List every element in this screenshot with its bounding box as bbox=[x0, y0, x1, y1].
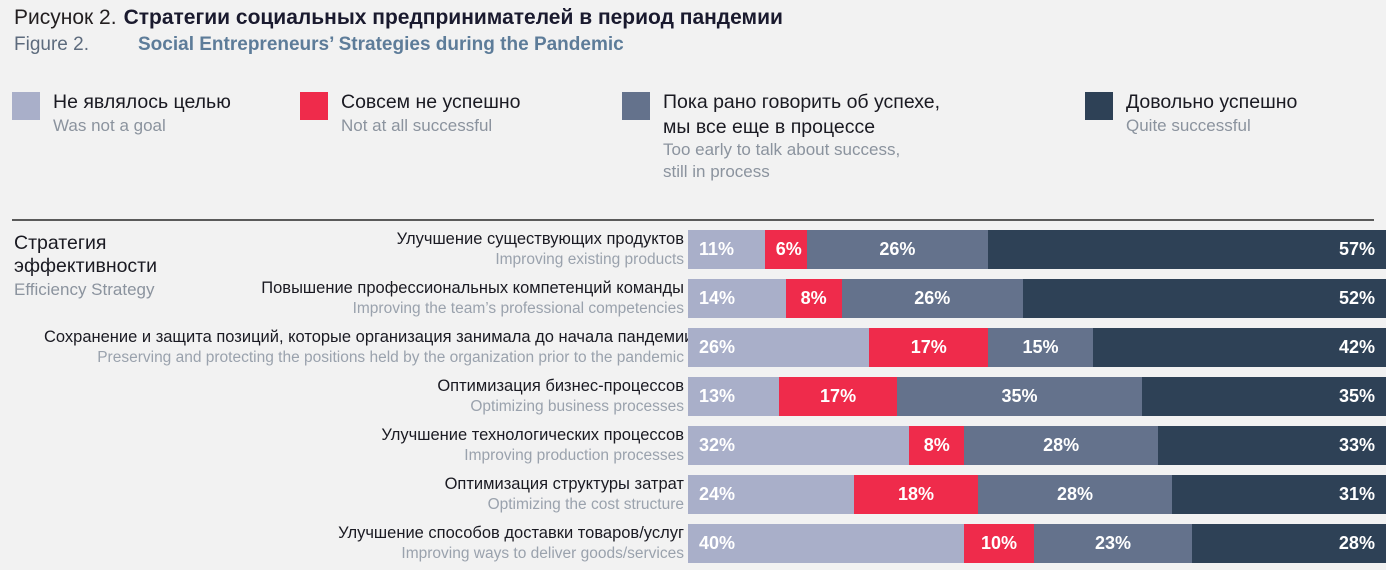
figure-title-en: Social Entrepreneurs’ Strategies during … bbox=[138, 34, 624, 56]
legend-item-0[interactable]: Не являлось цельюWas not a goal bbox=[12, 90, 231, 137]
bar-segment[interactable]: 14% bbox=[688, 279, 786, 318]
bar-segment[interactable]: 42% bbox=[1093, 328, 1386, 367]
legend-item-1[interactable]: Совсем не успешноNot at all successful bbox=[300, 90, 520, 137]
bar-segment-value: 6% bbox=[765, 239, 807, 260]
title-english-row: Figure 2. Social Entrepreneurs’ Strategi… bbox=[14, 34, 1374, 56]
stacked-bar: 14%8%26%52% bbox=[688, 279, 1386, 318]
bar-segment-value: 52% bbox=[1328, 288, 1386, 309]
bar-segment-value: 14% bbox=[688, 288, 746, 309]
bar-segment-value: 17% bbox=[900, 337, 958, 358]
legend-item-2[interactable]: Пока рано говорить об успехе,мы все еще … bbox=[622, 90, 940, 183]
legend-label-en: Quite successful bbox=[1126, 115, 1297, 137]
bar-segment-value: 40% bbox=[688, 533, 746, 554]
bar-segment-value: 32% bbox=[688, 435, 746, 456]
legend-label-ru: Довольно успешно bbox=[1126, 90, 1297, 115]
bar-row-label: Сохранение и защита позиций, которые орг… bbox=[44, 328, 684, 367]
bar-row-label-en: Preserving and protecting the positions … bbox=[44, 349, 684, 368]
stacked-bar: 24%18%28%31% bbox=[688, 475, 1386, 514]
bar-segment-value: 11% bbox=[688, 239, 745, 260]
legend-label-en: still in process bbox=[663, 161, 940, 183]
legend-swatch-icon bbox=[1085, 92, 1113, 120]
bar-row-label: Улучшение способов доставки товаров/услу… bbox=[44, 524, 684, 563]
bar-segment[interactable]: 23% bbox=[1034, 524, 1193, 563]
bar-segment[interactable]: 10% bbox=[964, 524, 1033, 563]
bar-row-label-ru: Улучшение существующих продуктов bbox=[44, 230, 684, 250]
bar-segment[interactable]: 26% bbox=[842, 279, 1023, 318]
bar-segment[interactable]: 33% bbox=[1158, 426, 1386, 465]
header-divider bbox=[12, 219, 1374, 221]
figure-number-ru: Рисунок 2. bbox=[14, 6, 117, 30]
bar-row-label-ru: Оптимизация структуры затрат bbox=[44, 475, 684, 495]
bar-segment-value: 26% bbox=[688, 337, 746, 358]
bar-row-label-en: Improving ways to deliver goods/services bbox=[44, 545, 684, 564]
bar-segment-value: 42% bbox=[1328, 337, 1386, 358]
bar-segment[interactable]: 28% bbox=[978, 475, 1172, 514]
bar-row: Улучшение технологических процессовImpro… bbox=[0, 426, 1386, 465]
bar-row: Улучшение существующих продуктовImprovin… bbox=[0, 230, 1386, 269]
bar-segment[interactable]: 8% bbox=[909, 426, 964, 465]
bar-segment-value: 33% bbox=[1328, 435, 1386, 456]
bar-segment-value: 13% bbox=[688, 386, 746, 407]
legend-swatch-icon bbox=[300, 92, 328, 120]
legend-swatch-icon bbox=[12, 92, 40, 120]
stacked-bar: 11%6%26%57% bbox=[688, 230, 1386, 269]
bar-segment-value: 28% bbox=[1046, 484, 1104, 505]
legend-label-ru: Не являлось целью bbox=[53, 90, 231, 115]
bar-segment-value: 18% bbox=[887, 484, 945, 505]
figure-title-ru: Стратегии социальных предпринимателей в … bbox=[124, 6, 783, 30]
bar-segment-value: 57% bbox=[1328, 239, 1386, 260]
figure-container: Рисунок 2. Стратегии социальных предприн… bbox=[0, 0, 1386, 570]
bar-row-label-ru: Улучшение технологических процессов bbox=[44, 426, 684, 446]
bar-segment[interactable]: 35% bbox=[1142, 377, 1386, 416]
legend-label-en: Not at all successful bbox=[341, 115, 520, 137]
bar-segment-value: 26% bbox=[903, 288, 961, 309]
bar-row-label-en: Improving production processes bbox=[44, 447, 684, 466]
legend-label-ru: Совсем не успешно bbox=[341, 90, 520, 115]
bar-segment-value: 24% bbox=[688, 484, 746, 505]
chart-body: Стратегияэффективности Efficiency Strate… bbox=[0, 230, 1386, 570]
bar-row: Повышение профессиональных компетенций к… bbox=[0, 279, 1386, 318]
bar-segment-value: 28% bbox=[1328, 533, 1386, 554]
bar-row-label-en: Improving existing products bbox=[44, 251, 684, 270]
bar-segment[interactable]: 26% bbox=[807, 230, 988, 269]
bar-row: Оптимизация структуры затратOptimizing t… bbox=[0, 475, 1386, 514]
bar-segment[interactable]: 57% bbox=[988, 230, 1386, 269]
figure-number-en: Figure 2. bbox=[14, 34, 138, 56]
bar-row-label-ru: Оптимизация бизнес-процессов bbox=[44, 377, 684, 397]
bar-segment[interactable]: 31% bbox=[1172, 475, 1386, 514]
bar-row-label: Улучшение существующих продуктовImprovin… bbox=[44, 230, 684, 269]
bar-segment-value: 35% bbox=[1328, 386, 1386, 407]
bar-row-label: Оптимизация бизнес-процессовOptimizing b… bbox=[44, 377, 684, 416]
bar-segment[interactable]: 32% bbox=[688, 426, 909, 465]
bar-row-label-en: Optimizing business processes bbox=[44, 398, 684, 417]
bar-row-label-ru: Сохранение и защита позиций, которые орг… bbox=[44, 328, 684, 348]
bar-row-label-ru: Улучшение способов доставки товаров/услу… bbox=[44, 524, 684, 544]
legend-texts: Пока рано говорить об успехе,мы все еще … bbox=[663, 90, 940, 183]
bar-row: Улучшение способов доставки товаров/услу… bbox=[0, 524, 1386, 563]
bar-segment-value: 23% bbox=[1084, 533, 1142, 554]
legend-label-ru: мы все еще в процессе bbox=[663, 115, 940, 140]
bar-segment[interactable]: 35% bbox=[897, 377, 1141, 416]
legend-swatch-icon bbox=[622, 92, 650, 120]
bar-segment[interactable]: 17% bbox=[869, 328, 988, 367]
bar-segment[interactable]: 6% bbox=[765, 230, 807, 269]
bar-row: Сохранение и защита позиций, которые орг… bbox=[0, 328, 1386, 367]
bar-segment[interactable]: 8% bbox=[786, 279, 842, 318]
bar-segment[interactable]: 18% bbox=[854, 475, 978, 514]
legend-label-en: Was not a goal bbox=[53, 115, 231, 137]
legend-texts: Довольно успешноQuite successful bbox=[1126, 90, 1297, 137]
bar-segment-value: 8% bbox=[913, 435, 961, 456]
bar-segment-value: 31% bbox=[1328, 484, 1386, 505]
bar-segment[interactable]: 24% bbox=[688, 475, 854, 514]
legend-label-en: Too early to talk about success, bbox=[663, 139, 940, 161]
bar-segment[interactable]: 52% bbox=[1023, 279, 1386, 318]
legend-item-3[interactable]: Довольно успешноQuite successful bbox=[1085, 90, 1297, 137]
bar-segment-value: 8% bbox=[790, 288, 838, 309]
stacked-bar: 32%8%28%33% bbox=[688, 426, 1386, 465]
stacked-bar: 13%17%35%35% bbox=[688, 377, 1386, 416]
bar-segment[interactable]: 26% bbox=[688, 328, 869, 367]
bar-row-label-en: Optimizing the cost structure bbox=[44, 496, 684, 515]
legend-label-ru: Пока рано говорить об успехе, bbox=[663, 90, 940, 115]
bar-segment[interactable]: 17% bbox=[779, 377, 898, 416]
title-russian-row: Рисунок 2. Стратегии социальных предприн… bbox=[14, 6, 1374, 30]
bar-segment[interactable]: 40% bbox=[688, 524, 964, 563]
bar-row-label-ru: Повышение профессиональных компетенций к… bbox=[44, 279, 684, 299]
legend-texts: Не являлось цельюWas not a goal bbox=[53, 90, 231, 137]
chart-legend: Не являлось цельюWas not a goalСовсем не… bbox=[0, 88, 1386, 198]
legend-texts: Совсем не успешноNot at all successful bbox=[341, 90, 520, 137]
bar-row-label-en: Improving the team’s professional compet… bbox=[44, 300, 684, 319]
bar-segment-value: 15% bbox=[1011, 337, 1069, 358]
stacked-bar: 26%17%15%42% bbox=[688, 328, 1386, 367]
bar-segment[interactable]: 28% bbox=[1192, 524, 1386, 563]
bar-rows: Улучшение существующих продуктовImprovin… bbox=[0, 230, 1386, 570]
bar-segment-value: 35% bbox=[991, 386, 1049, 407]
bar-row-label: Повышение профессиональных компетенций к… bbox=[44, 279, 684, 318]
bar-segment-value: 17% bbox=[809, 386, 867, 407]
bar-segment-value: 10% bbox=[970, 533, 1028, 554]
bar-segment-value: 28% bbox=[1032, 435, 1090, 456]
bar-segment-value: 26% bbox=[868, 239, 926, 260]
figure-title-block: Рисунок 2. Стратегии социальных предприн… bbox=[14, 6, 1374, 56]
bar-row-label: Оптимизация структуры затратOptimizing t… bbox=[44, 475, 684, 514]
bar-segment[interactable]: 11% bbox=[688, 230, 765, 269]
bar-segment[interactable]: 28% bbox=[964, 426, 1158, 465]
stacked-bar: 40%10%23%28% bbox=[688, 524, 1386, 563]
bar-row-label: Улучшение технологических процессовImpro… bbox=[44, 426, 684, 465]
bar-segment[interactable]: 15% bbox=[988, 328, 1093, 367]
bar-row: Оптимизация бизнес-процессовOptimizing b… bbox=[0, 377, 1386, 416]
bar-segment[interactable]: 13% bbox=[688, 377, 779, 416]
